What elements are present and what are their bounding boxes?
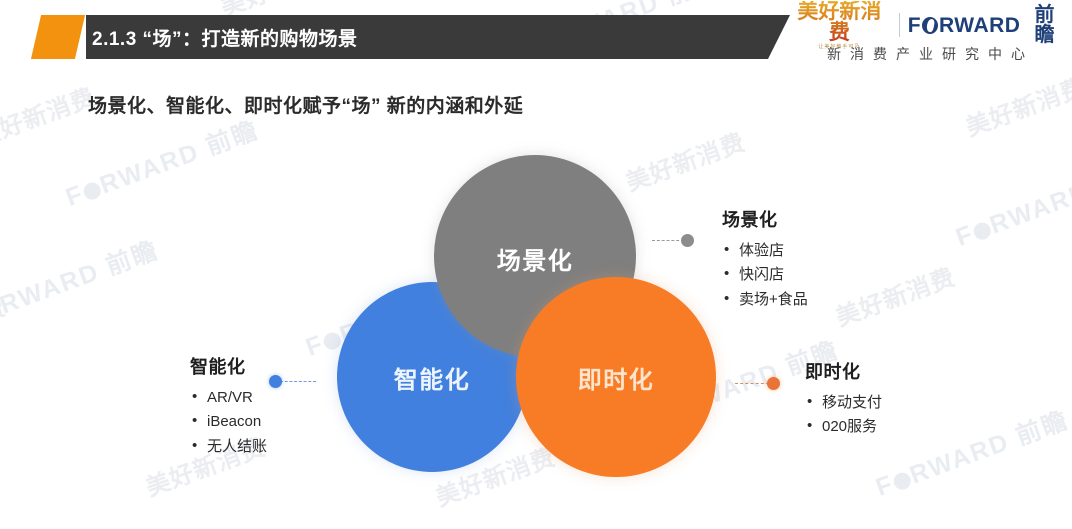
- callout-title: 场景化: [722, 206, 808, 232]
- callout-jishihua: 即时化 移动支付 020服务: [805, 358, 882, 440]
- brand-logo: 美好新消费 让美好触手可及 F RWARD FRWARD前瞻 新消费产业研究中心: [788, 10, 1064, 64]
- callout-list: 移动支付 020服务: [805, 391, 882, 440]
- list-item: 020服务: [805, 415, 882, 439]
- brand-en-suffix: RWARD: [939, 15, 1020, 36]
- connector-line-zhinenghua: [280, 381, 316, 382]
- orange-parallelogram-icon: [31, 15, 85, 59]
- venn-diagram: 智能化 场景化 即时化: [0, 0, 1072, 529]
- callout-title: 即时化: [805, 358, 882, 384]
- list-item: 快闪店: [722, 263, 808, 287]
- list-item: AR/VR: [190, 386, 267, 410]
- callout-zhinenghua: 智能化 AR/VR iBeacon 无人结账: [190, 353, 267, 459]
- connector-dot-zhinenghua: [269, 375, 282, 388]
- brand-cn-name: 美好新消费: [788, 1, 891, 43]
- connector-line-jishihua: [735, 383, 769, 384]
- brand-en-prefix: F: [908, 15, 921, 36]
- callout-list: AR/VR iBeacon 无人结账: [190, 386, 267, 459]
- callout-list: 体验店 快闪店 卖场+食品: [722, 239, 808, 312]
- list-item: 无人结账: [190, 435, 267, 459]
- list-item: 移动支付: [805, 391, 882, 415]
- slide-canvas: 美好新消费 FRWARD 前瞻 美好新消费 FRWARD 前瞻 美好新消费 FR…: [0, 0, 1072, 529]
- connector-dot-jishihua: [767, 377, 780, 390]
- brand-logo-row: 美好新消费 让美好触手可及 F RWARD FRWARD前瞻: [788, 10, 1064, 40]
- brand-en-cn: 前瞻: [1025, 5, 1064, 45]
- list-item: 体验店: [722, 239, 808, 263]
- connector-dot-changjinghua: [681, 234, 694, 247]
- brand-tagline: 新消费产业研究中心: [788, 44, 1064, 64]
- connector-line-changjinghua: [652, 240, 684, 241]
- list-item: iBeacon: [190, 410, 267, 434]
- venn-circle-jishihua[interactable]: 即时化: [516, 277, 716, 477]
- callout-title: 智能化: [190, 353, 267, 379]
- brand-en-name: F RWARD FRWARD前瞻: [908, 5, 1064, 45]
- slide-subtitle: 场景化、智能化、即时化赋予“场” 新的内涵和外延: [88, 91, 523, 118]
- callout-changjinghua: 场景化 体验店 快闪店 卖场+食品: [722, 206, 808, 312]
- page-title: 2.1.3 “场”：打造新的购物场景: [92, 15, 358, 59]
- globe-icon: [922, 17, 938, 34]
- brand-cn-block: 美好新消费 让美好触手可及: [788, 1, 891, 50]
- brand-divider: [899, 13, 900, 37]
- list-item: 卖场+食品: [722, 288, 808, 312]
